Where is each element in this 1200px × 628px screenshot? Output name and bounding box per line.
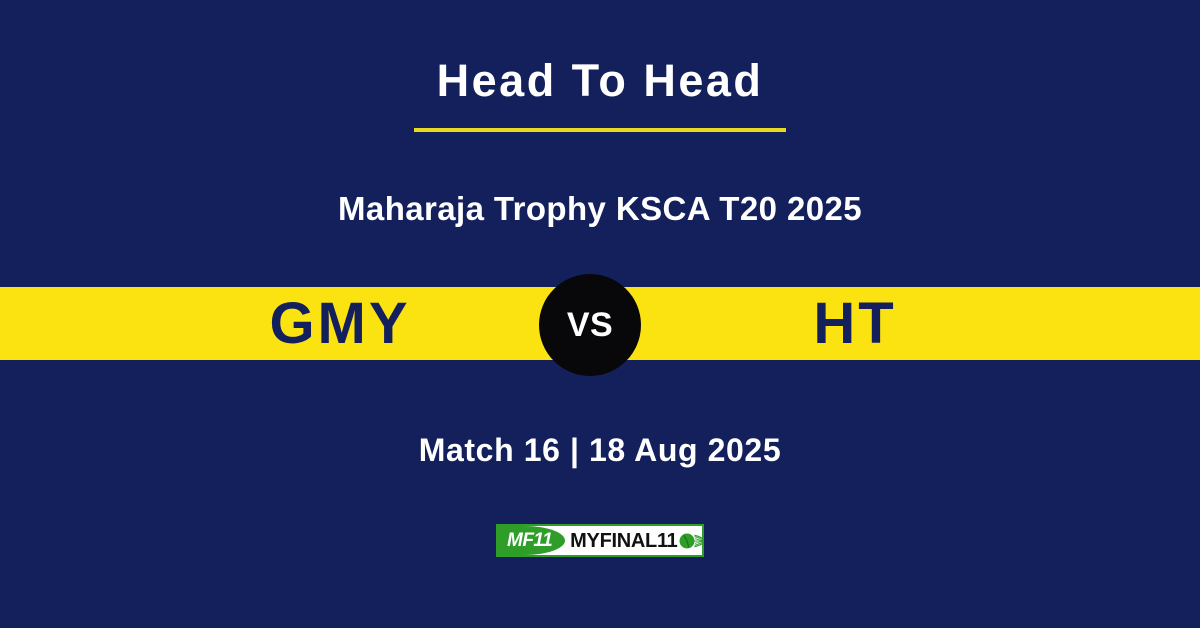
cricket-ball-icon <box>678 526 705 555</box>
logo-wordmark: MYFINAL11 <box>565 526 677 555</box>
myfinal11-logo: MF11 MYFINAL11 <box>496 524 704 557</box>
page-title: Head To Head <box>0 58 1200 103</box>
match-info: Match 16 | 18 Aug 2025 <box>0 432 1200 469</box>
versus-badge: VS <box>539 274 641 376</box>
logo-wordmark-label: MYFINAL11 <box>570 531 677 551</box>
head-to-head-poster: Head To Head Maharaja Trophy KSCA T20 20… <box>0 0 1200 628</box>
versus-label: VS <box>567 306 613 345</box>
team-left-abbreviation: GMY <box>140 287 540 360</box>
logo-badge: MF11 <box>498 526 565 555</box>
tournament-name: Maharaja Trophy KSCA T20 2025 <box>0 190 1200 228</box>
title-block: Head To Head <box>0 58 1200 132</box>
team-right-abbreviation: HT <box>655 287 1055 360</box>
logo-badge-label: MF11 <box>507 531 552 550</box>
title-underline-divider <box>414 128 786 132</box>
